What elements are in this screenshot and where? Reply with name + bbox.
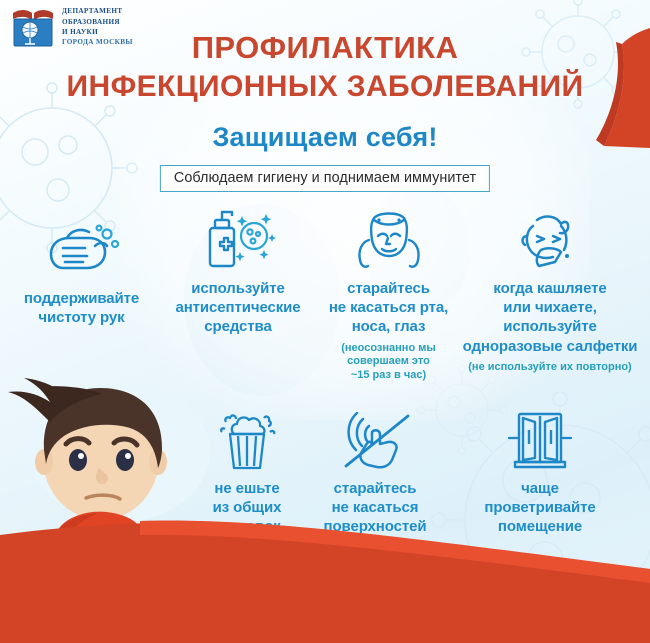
tip-2-label-line-1: используйте (158, 279, 318, 298)
tip-3-label-line-1: старайтесь (316, 279, 461, 298)
tip-4-label-line-2: или чихаете, (452, 298, 648, 317)
tip-7-icon-wrap (452, 412, 628, 472)
poster-slogan: Защищаем себя! (0, 122, 650, 153)
tip-3-note-line-2: совершаем это (316, 355, 461, 369)
tip-1-icon-wrap (4, 222, 159, 282)
logo-line-1: ДЕПАРТАМЕНТ (62, 6, 133, 16)
tip-2-label-line-2: антисептические (158, 298, 318, 317)
boy-eye-left (69, 449, 87, 471)
tip-1-label-line-2: чистоту рук (4, 308, 159, 327)
sneeze-into-tissue-icon (511, 212, 589, 272)
tip-6-label-line-1: старайтесь (296, 479, 454, 498)
do-not-touch-surfaces-icon (338, 412, 412, 472)
tip-2-label-line-3: средства (158, 317, 318, 336)
tip-1-label: поддерживайте чистоту рук (4, 289, 159, 327)
logo-line-2: ОБРАЗОВАНИЯ (62, 17, 133, 27)
title-line-1: ПРОФИЛАКТИКА (0, 28, 650, 68)
tip-3-note: (неосознанно мы совершаем это ~15 раз в … (316, 342, 461, 384)
tip-item-1: поддерживайте чистоту рук (4, 222, 159, 327)
red-scarf-sweep-bottom (0, 513, 650, 643)
tip-4-label-line-3: используйте (452, 317, 648, 336)
tip-2-icon-wrap (158, 212, 318, 272)
poster-title: ПРОФИЛАКТИКА ИНФЕКЦИОННЫХ ЗАБОЛЕВАНИЙ (0, 28, 650, 106)
boy-eye-right (116, 449, 134, 471)
tip-3-note-line-1: (неосознанно мы (316, 342, 461, 356)
infographic-poster: ДЕПАРТАМЕНТ ОБРАЗОВАНИЯ И НАУКИ ГОРОДА М… (0, 0, 650, 643)
tip-3-label-line-3: носа, глаз (316, 317, 461, 336)
tip-item-2: используйте антисептические средства (158, 212, 318, 337)
poster-subtitle-box: Соблюдаем гигиену и поднимаем иммунитет (160, 165, 490, 192)
do-not-touch-face-icon (352, 210, 426, 272)
tip-item-3: старайтесь не касаться рта, носа, глаз (… (316, 212, 461, 383)
title-line-2: ИНФЕКЦИОННЫХ ЗАБОЛЕВАНИЙ (0, 68, 650, 106)
tip-4-note: (не используйте их повторно) (452, 361, 648, 375)
tip-4-note-line-1: (не используйте их повторно) (452, 361, 648, 375)
tip-7-label-line-1: чаще (452, 479, 628, 498)
tip-1-label-line-1: поддерживайте (4, 289, 159, 308)
open-window-icon (507, 410, 573, 472)
tip-4-label-line-4: одноразовые салфетки (452, 337, 648, 356)
washing-hands-icon (43, 224, 121, 282)
tip-6-icon-wrap (296, 412, 454, 472)
tip-4-label: когда кашляете или чихаете, используйте … (452, 279, 648, 356)
tip-3-label: старайтесь не касаться рта, носа, глаз (316, 279, 461, 337)
tip-4-label-line-1: когда кашляете (452, 279, 648, 298)
antiseptic-bottle-icon (196, 206, 280, 272)
tip-2-label: используйте антисептические средства (158, 279, 318, 337)
tip-3-icon-wrap (316, 212, 461, 272)
tip-4-icon-wrap (452, 212, 648, 272)
tip-3-label-line-2: не касаться рта, (316, 298, 461, 317)
tip-item-4: когда кашляете или чихаете, используйте … (452, 212, 648, 375)
tip-3-note-line-3: ~15 раз в час) (316, 369, 461, 383)
